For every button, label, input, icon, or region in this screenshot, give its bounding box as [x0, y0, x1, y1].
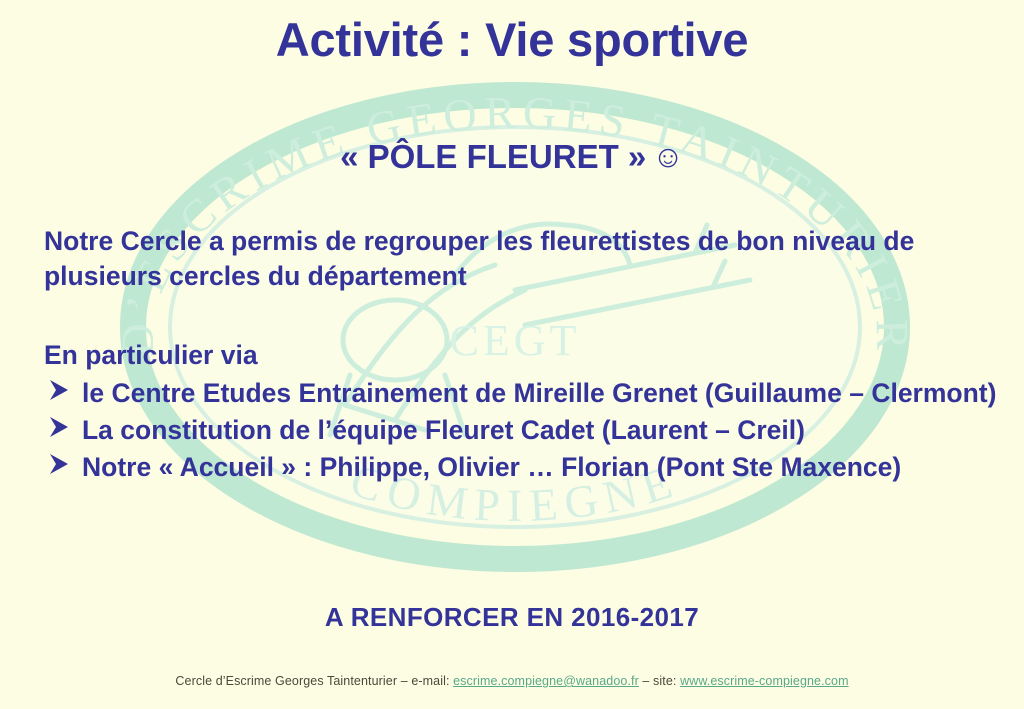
intro-paragraph: Notre Cercle a permis de regrouper les f… — [44, 224, 974, 294]
closing-statement: A RENFORCER EN 2016-2017 — [0, 602, 1024, 633]
list-item-label: La constitution de l’équipe Fleuret Cade… — [82, 415, 805, 445]
bullet-list: le Centre Etudes Entrainement de Mireill… — [44, 376, 1004, 486]
arrowhead-bullet-icon — [46, 376, 72, 404]
footer-separator-1: – e-mail: — [401, 674, 450, 688]
smiley-icon: ☺ — [652, 139, 684, 175]
arrowhead-bullet-icon — [46, 413, 72, 441]
slide-canvas: D’ESCRIME GEORGES TAINTURIER COMPIEGNE C… — [0, 0, 1024, 709]
list-item: Notre « Accueil » : Philippe, Olivier … … — [44, 450, 1004, 486]
list-item: La constitution de l’équipe Fleuret Cade… — [44, 413, 1004, 449]
list-item: le Centre Etudes Entrainement de Mireill… — [44, 376, 1004, 412]
slide-subtitle: « PÔLE FLEURET »☺ — [0, 138, 1024, 176]
arrowhead-bullet-icon — [46, 450, 72, 478]
slide-footer: Cercle d’Escrime Georges Taintenturier –… — [0, 674, 1024, 688]
lead-in-text: En particulier via — [44, 338, 258, 373]
footer-separator-2: – site: — [642, 674, 676, 688]
slide-title: Activité : Vie sportive — [0, 14, 1024, 66]
list-item-label: le Centre Etudes Entrainement de Mireill… — [82, 378, 996, 408]
footer-email-link[interactable]: escrime.compiegne@wanadoo.fr — [453, 674, 639, 688]
subtitle-text: « PÔLE FLEURET » — [340, 138, 646, 175]
footer-website-link[interactable]: www.escrime-compiegne.com — [680, 674, 849, 688]
list-item-label: Notre « Accueil » : Philippe, Olivier … … — [82, 452, 901, 482]
footer-org: Cercle d’Escrime Georges Taintenturier — [175, 674, 397, 688]
